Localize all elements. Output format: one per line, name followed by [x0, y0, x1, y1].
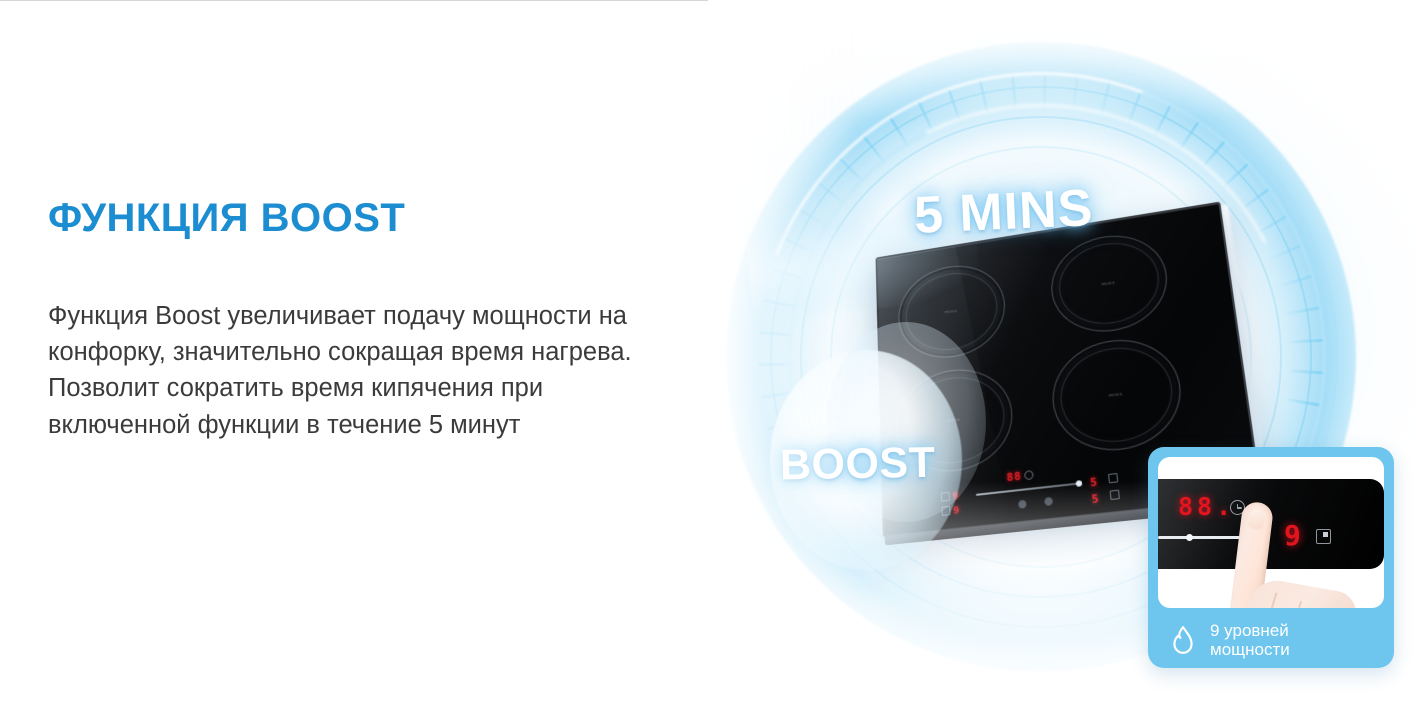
card-footer: 9 уровней мощности: [1148, 612, 1394, 668]
burner-mark-2: Midea: [1102, 280, 1116, 287]
card-caption: 9 уровней мощности: [1210, 621, 1290, 660]
hand-crease-1: [1260, 592, 1277, 608]
hob-slider-track[interactable]: [976, 482, 1080, 496]
flame-icon: [1170, 625, 1196, 655]
hob-timer-key[interactable]: [1024, 470, 1034, 480]
boost-label: BOOST: [780, 439, 936, 491]
power-slider-handle[interactable]: [1186, 534, 1193, 541]
top-divider: [0, 0, 708, 1]
power-level-display: 9: [1284, 519, 1301, 552]
boost-glow-bubble-secondary: [826, 322, 986, 522]
pot-detection-icon: [1316, 529, 1331, 544]
description-paragraph: Функция Boost увеличивает подачу мощност…: [48, 298, 658, 443]
hob-touch-key-1[interactable]: [1018, 500, 1027, 509]
hand-crease-2: [1286, 601, 1302, 608]
text-column: ФУНКЦИЯ BOOST Функция Boost увеличивает …: [48, 196, 668, 443]
hob-touch-key-2[interactable]: [1044, 497, 1053, 506]
hob-key-right-2[interactable]: [1110, 490, 1120, 500]
power-slider-track[interactable]: [1158, 536, 1240, 539]
hob-timer-display: 88: [1006, 469, 1022, 484]
burner-mark-1: Midea: [945, 308, 957, 314]
hob-slider-handle[interactable]: [1076, 480, 1083, 487]
hob-level-right-2: 5: [1091, 492, 1099, 506]
inset-white-area: 88. 9 9: [1158, 457, 1384, 608]
hob-level-right-1: 5: [1090, 475, 1098, 489]
page-title: ФУНКЦИЯ BOOST: [48, 196, 668, 240]
hero-image: Midea Midea Midea Midea Midea 88 9: [708, 0, 1416, 711]
hob-key-right-1[interactable]: [1108, 473, 1118, 483]
promo-banner: ФУНКЦИЯ BOOST Функция Boost увеличивает …: [0, 0, 1416, 711]
timer-display: 88.: [1178, 492, 1235, 521]
hob-level-left-2: 9: [953, 505, 959, 517]
fingernail: [1247, 508, 1265, 530]
burner-mark-4: Midea: [1109, 391, 1123, 398]
power-levels-card: 88. 9 9: [1148, 447, 1394, 668]
minutes-label: 5 MINS: [913, 178, 1095, 246]
